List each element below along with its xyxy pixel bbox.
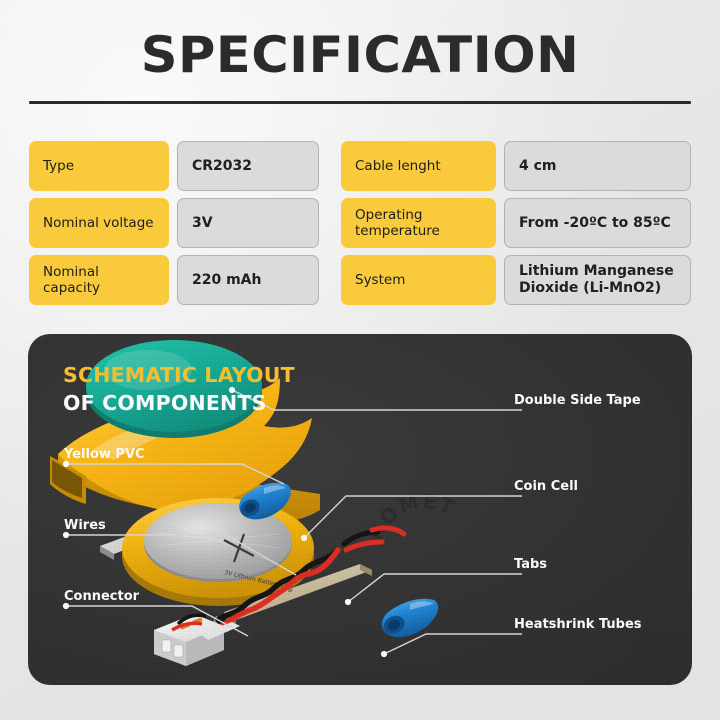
panel-heading-line-2: OF COMPONENTS xyxy=(63,390,295,418)
callout-label-coin-cell: Coin Cell xyxy=(514,479,578,494)
page-title: SPECIFICATION xyxy=(0,26,720,84)
schematic-panel: ROMETECH 3V Lithium Battery CR2032 xyxy=(28,334,692,685)
callout-label-double-side-tape: Double Side Tape xyxy=(514,393,641,408)
panel-heading-line-1: SCHEMATIC LAYOUT xyxy=(63,362,295,390)
spec-row: Type CR2032 xyxy=(29,141,319,191)
spec-value: 3V xyxy=(177,198,319,248)
spec-value: CR2032 xyxy=(177,141,319,191)
spec-row: Nominal voltage 3V xyxy=(29,198,319,248)
spec-value: 220 mAh xyxy=(177,255,319,305)
callout-label-heatshrink-tubes: Heatshrink Tubes xyxy=(514,617,642,632)
spec-row: System Lithium Manganese Dioxide (Li-MnO… xyxy=(341,255,691,305)
title-divider xyxy=(29,101,691,104)
leader-dot-coin-cell xyxy=(301,535,307,541)
spec-key: Cable lenght xyxy=(341,141,496,191)
callout-label-tabs: Tabs xyxy=(514,557,547,572)
callout-label-wires: Wires xyxy=(64,518,106,533)
leader-dot-heatshrink xyxy=(381,651,387,657)
infographic-page: SPECIFICATION Type CR2032 Nominal voltag… xyxy=(0,0,720,720)
callout-label-yellow-pvc: Yellow PVC xyxy=(64,447,145,462)
spec-key: Nominal voltage xyxy=(29,198,169,248)
spec-key: Nominal capacity xyxy=(29,255,169,305)
spec-row: Operating temperature From -20ºC to 85ºC xyxy=(341,198,691,248)
spec-key: Operating temperature xyxy=(341,198,496,248)
spec-value: Lithium Manganese Dioxide (Li-MnO2) xyxy=(504,255,691,305)
panel-heading: SCHEMATIC LAYOUT OF COMPONENTS xyxy=(63,362,295,417)
spec-value: From -20ºC to 85ºC xyxy=(504,198,691,248)
spec-row: Nominal capacity 220 mAh xyxy=(29,255,319,305)
leader-dot-tabs xyxy=(345,599,351,605)
callout-label-connector: Connector xyxy=(64,589,139,604)
spec-row: Cable lenght 4 cm xyxy=(341,141,691,191)
spec-value: 4 cm xyxy=(504,141,691,191)
spec-key: System xyxy=(341,255,496,305)
spec-key: Type xyxy=(29,141,169,191)
